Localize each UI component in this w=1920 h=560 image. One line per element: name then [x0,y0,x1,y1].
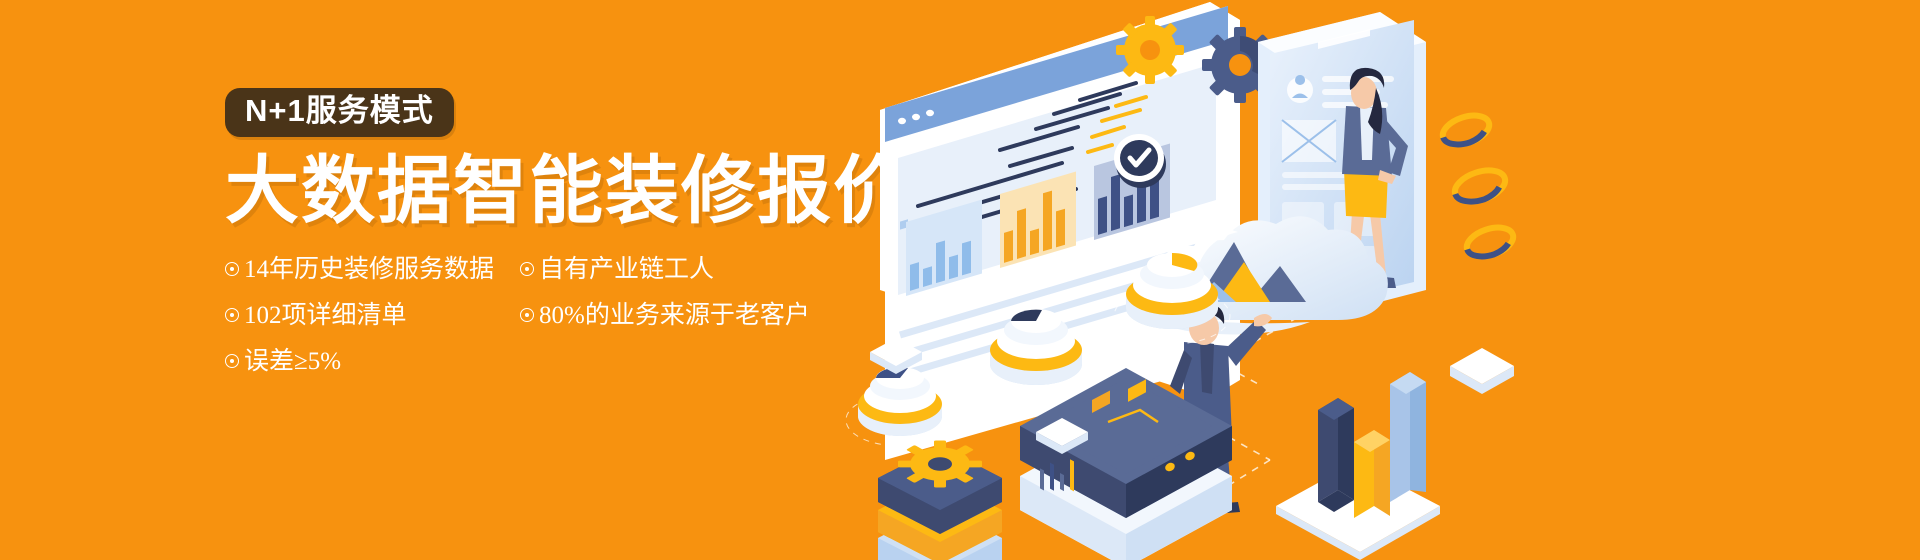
gear-yellow [1116,16,1184,84]
list-item-label: 误差≥5% [244,349,341,374]
list-item-label: 80%的业务来源于老客户 [539,303,810,328]
service-model-badge: N+1服务模式 [225,88,454,137]
circle-dot-icon [225,308,239,322]
list-item: 误差≥5% [225,349,520,374]
isometric-big-data-illustration [840,0,1600,560]
promo-banner: N+1服务模式 大数据智能装修报价 14年历史装修服务数据 102项详细清单 误… [0,0,1920,560]
list-item: 102项详细清单 [225,303,520,328]
circle-dot-icon [520,308,534,322]
list-item-label: 102项详细清单 [244,303,407,328]
list-item: 自有产业链工人 [520,257,850,282]
list-item-label: 14年历史装修服务数据 [244,257,494,282]
feature-list-left-column: 14年历史装修服务数据 102项详细清单 误差≥5% [225,257,520,395]
list-item: 14年历史装修服务数据 [225,257,520,282]
list-item: 80%的业务来源于老客户 [520,303,850,328]
ring-icons [1439,110,1517,262]
gear-yellow-icon [898,440,982,487]
hexagon-gear-stack [878,440,1002,560]
feature-list-right-column: 自有产业链工人 80%的业务来源于老客户 [520,257,850,395]
circle-dot-icon [225,354,239,368]
circle-dot-icon [520,262,534,276]
list-item-label: 自有产业链工人 [539,257,714,282]
circle-dot-icon [225,262,239,276]
feature-list: 14年历史装修服务数据 102项详细清单 误差≥5% 自有产业链工人 [225,257,865,395]
bar-chart-3d-podium [1276,372,1440,560]
